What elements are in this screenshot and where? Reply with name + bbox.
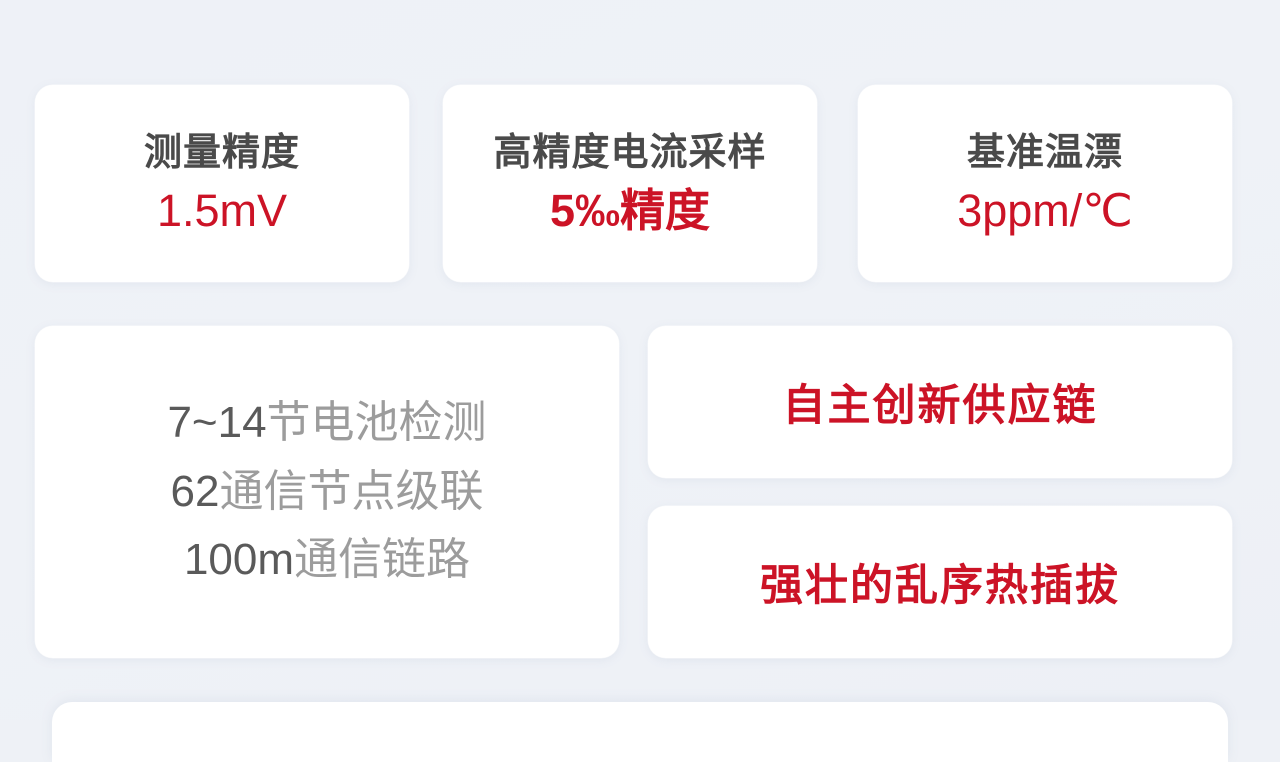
spec-line: 100m通信链路 xyxy=(184,537,470,584)
stat-card-reference-temperature-drift[interactable]: 基准温漂 3ppm/℃ xyxy=(858,85,1232,282)
spec-line-number: 7~14 xyxy=(167,398,266,447)
spec-line-number: 100m xyxy=(184,535,294,584)
highlight-card-hot-swap[interactable]: 强壮的乱序热插拔 xyxy=(648,506,1232,658)
spec-line-label: 节电池检测 xyxy=(267,398,487,447)
stat-card-value: 3ppm/℃ xyxy=(957,184,1133,237)
stat-card-measurement-accuracy[interactable]: 测量精度 1.5mV xyxy=(35,85,409,282)
spec-line: 7~14节电池检测 xyxy=(167,400,486,447)
stat-card-current-sampling[interactable]: 高精度电流采样 5‰精度 xyxy=(443,85,817,282)
stat-card-title: 高精度电流采样 xyxy=(493,130,766,176)
spec-line: 62通信节点级联 xyxy=(171,469,484,516)
highlight-card-text: 强壮的乱序热插拔 xyxy=(760,551,1120,613)
stat-card-title: 基准温漂 xyxy=(967,130,1123,176)
stat-card-value: 1.5mV xyxy=(157,184,287,237)
highlight-card-supply-chain[interactable]: 自主创新供应链 xyxy=(648,326,1232,478)
page-root: 测量精度 1.5mV 高精度电流采样 5‰精度 基准温漂 3ppm/℃ 7~14… xyxy=(0,0,1280,720)
bottom-card-partial[interactable] xyxy=(52,702,1228,762)
spec-list-card[interactable]: 7~14节电池检测 62通信节点级联 100m通信链路 xyxy=(35,326,619,658)
spec-line-label: 通信链路 xyxy=(294,535,470,584)
stat-card-title: 测量精度 xyxy=(144,130,300,176)
spec-line-number: 62 xyxy=(171,467,220,516)
spec-line-label: 通信节点级联 xyxy=(219,467,483,516)
stat-card-value: 5‰精度 xyxy=(550,184,710,237)
highlight-card-text: 自主创新供应链 xyxy=(783,371,1098,433)
